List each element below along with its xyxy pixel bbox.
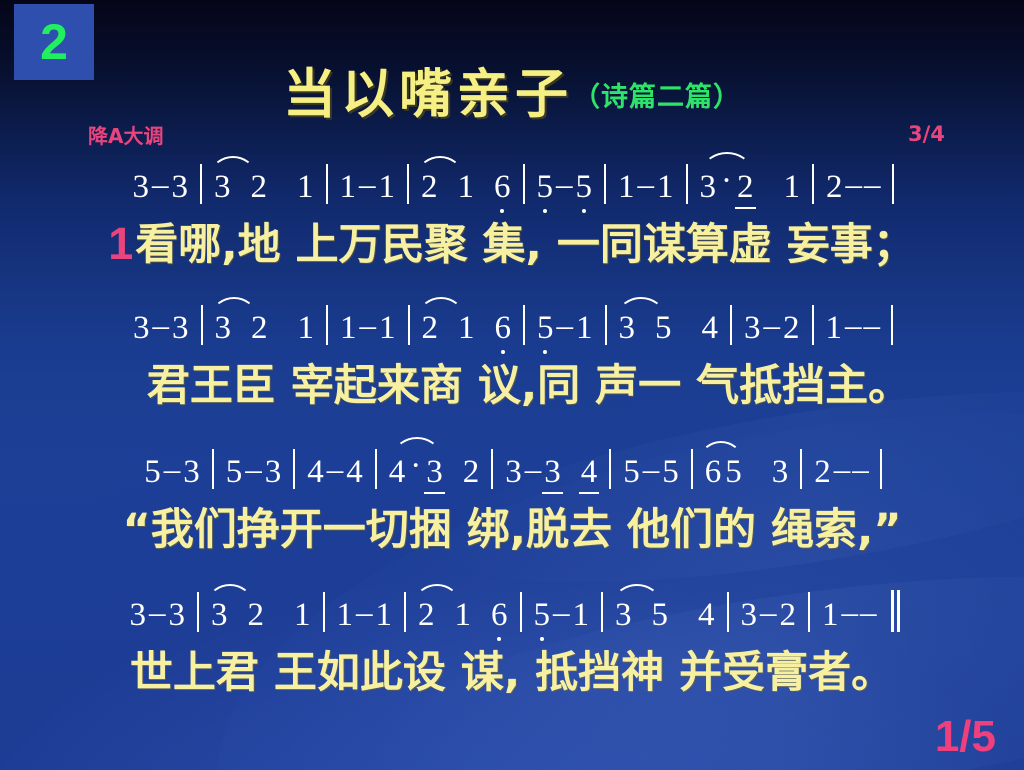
dash: –: [642, 452, 661, 489]
note: 3: [181, 456, 202, 489]
note: 1: [453, 599, 474, 632]
note-eighth: 3: [424, 456, 445, 489]
notation-line-3: 5–3 5–3 4–4 4·32 3–34 5–5 653 2––: [0, 443, 1024, 489]
note-low-octave: 6: [492, 171, 513, 204]
barline: [605, 305, 607, 345]
note: 1: [377, 312, 398, 345]
time-signature-label: 3/4: [908, 122, 945, 146]
note: 3: [131, 312, 152, 345]
dash: –: [833, 452, 852, 489]
note: 3: [613, 599, 634, 632]
note: 1: [335, 599, 356, 632]
notation-line-1: 3–3 321 1–1 216 5–5 1–1 3·21 2––: [0, 158, 1024, 204]
barline: [604, 164, 606, 204]
lyrics-line-2: 君王臣 宰起来商 议,同 声一 气抵挡主。: [0, 351, 1024, 413]
dash: –: [851, 452, 870, 489]
note-eighth: 4: [579, 456, 600, 489]
barline: [609, 449, 611, 489]
note: 1: [655, 171, 676, 204]
title-row: 当以嘴亲子（诗篇二篇）: [0, 52, 1024, 128]
barline: [800, 449, 802, 489]
note: 1: [295, 171, 316, 204]
measure: 5–1: [527, 595, 597, 632]
note: 2: [419, 171, 440, 204]
barline: [812, 305, 814, 345]
note: 5: [621, 456, 642, 489]
dash: –: [163, 452, 182, 489]
note-low-octave: 5: [532, 599, 553, 632]
note-eighth: 3: [542, 456, 563, 489]
barline: [892, 164, 894, 204]
measure: 653: [698, 456, 796, 489]
measure: 321: [208, 312, 322, 345]
measure: 354: [612, 312, 726, 345]
page-title: 当以嘴亲子: [283, 64, 573, 125]
barline: [323, 592, 325, 632]
note: 1: [782, 171, 803, 204]
dash: –: [244, 452, 263, 489]
dash: –: [358, 167, 377, 204]
note: 3: [170, 312, 191, 345]
note: 2: [778, 599, 799, 632]
barline: [520, 592, 522, 632]
dash: –: [637, 167, 656, 204]
measure: 5–3: [137, 452, 207, 489]
barline: [491, 449, 493, 489]
measure: 216: [411, 599, 515, 632]
measure: 3–3: [123, 595, 193, 632]
barline: [523, 164, 525, 204]
measure: 1–1: [333, 167, 403, 204]
note: 2: [246, 599, 267, 632]
note: 5: [660, 456, 681, 489]
note: 5: [650, 599, 671, 632]
note: 5: [142, 456, 163, 489]
note: 1: [571, 599, 592, 632]
barline: [375, 449, 377, 489]
dash: –: [841, 595, 860, 632]
note: 3: [617, 312, 638, 345]
lyrics-text: 看哪,地 上万民聚 集, 一同谋算虚 妄事；: [135, 210, 916, 272]
barline: [404, 592, 406, 632]
barline: [891, 305, 893, 345]
note: 5: [224, 456, 245, 489]
barline: [407, 164, 409, 204]
note: 6: [703, 456, 724, 489]
title-subtitle-reference: （诗篇二篇）: [573, 82, 741, 113]
measure: 216: [415, 312, 519, 345]
barline: [686, 164, 688, 204]
music-system-1: 3–3 321 1–1 216 5–5 1–1 3·21 2––: [0, 158, 1024, 272]
barline: [880, 449, 882, 489]
note: 4: [344, 456, 365, 489]
barline: [601, 592, 603, 632]
dash: –: [844, 308, 863, 345]
measure: 4–4: [300, 452, 370, 489]
dash: –: [763, 308, 782, 345]
dash: –: [845, 167, 864, 204]
dash: –: [359, 308, 378, 345]
measure: 5–1: [530, 308, 600, 345]
augmentation-dot: ·: [407, 448, 424, 485]
lyrics-line-1: 1看哪,地 上万民聚 集, 一同谋算虚 妄事；: [0, 210, 1024, 272]
barline: [523, 305, 525, 345]
note: 2: [812, 456, 833, 489]
music-system-3: 5–3 5–3 4–4 4·32 3–34 5–5 653 2–– “我: [0, 443, 1024, 557]
note: 1: [574, 312, 595, 345]
lyrics-line-3: “我们挣开一切捆 绑,脱去 他们的 绳索,”: [0, 495, 1024, 557]
note-low-octave: 6: [489, 599, 510, 632]
measure: 5–5: [530, 167, 600, 204]
note: 3: [128, 599, 149, 632]
note: 3: [131, 171, 152, 204]
dash: –: [552, 595, 571, 632]
note: 3: [209, 599, 230, 632]
note: 4: [700, 312, 721, 345]
dash: –: [524, 452, 543, 489]
dash: –: [151, 167, 170, 204]
measure: 3–2: [734, 595, 804, 632]
lyrics-text: 君王臣 宰起来商 议,同 声一 气抵挡主。: [147, 351, 911, 413]
dash: –: [859, 595, 878, 632]
note: 1: [824, 312, 845, 345]
measure: 3–34: [498, 452, 604, 489]
barline: [812, 164, 814, 204]
measure: 1––: [819, 308, 887, 345]
note: 2: [249, 312, 270, 345]
measure: 3–3: [126, 167, 196, 204]
note: 2: [420, 312, 441, 345]
measure: 321: [204, 599, 318, 632]
note: 1: [820, 599, 841, 632]
note: 1: [374, 599, 395, 632]
measure: 1––: [815, 595, 883, 632]
barline: [408, 305, 410, 345]
measure: 216: [414, 171, 518, 204]
note: 4: [305, 456, 326, 489]
measure: 3–2: [737, 308, 807, 345]
measure: 2––: [807, 452, 875, 489]
note: 5: [723, 456, 744, 489]
lyrics-text: 世上君 王如此设 谋, 抵挡神 并受膏者。: [130, 638, 894, 700]
dash: –: [148, 595, 167, 632]
note: 1: [377, 171, 398, 204]
note: 3: [503, 456, 524, 489]
measure: 2––: [819, 167, 887, 204]
note: 3: [739, 599, 760, 632]
measure: 1–1: [611, 167, 681, 204]
measure: 4·32: [382, 452, 487, 489]
barline: [293, 449, 295, 489]
note: 3: [698, 171, 719, 204]
note: 1: [616, 171, 637, 204]
notation-line-4: 3–3 321 1–1 216 5–1 354 3–2 1––: [0, 586, 1024, 632]
note: 3: [770, 456, 791, 489]
note: 1: [296, 312, 317, 345]
note: 1: [456, 171, 477, 204]
note: 3: [742, 312, 763, 345]
measure: 354: [608, 599, 722, 632]
dash: –: [152, 308, 171, 345]
barline: [808, 592, 810, 632]
note-low-octave: 5: [574, 171, 595, 204]
verse-number: 1: [108, 218, 133, 270]
dash: –: [326, 452, 345, 489]
lyrics-text: “我们挣开一切捆 绑,脱去 他们的 绳索,”: [122, 495, 901, 557]
note: 1: [338, 171, 359, 204]
note: 3: [167, 599, 188, 632]
measure: 1–1: [333, 308, 403, 345]
slide-canvas: 2 当以嘴亲子（诗篇二篇） 降A大调 3/4 3–3 321 1–1 216 5…: [0, 0, 1024, 770]
note: 3: [212, 171, 233, 204]
note: 2: [416, 599, 437, 632]
measure: 1–1: [330, 595, 400, 632]
dash: –: [863, 308, 882, 345]
note: 1: [338, 312, 359, 345]
dash: –: [556, 308, 575, 345]
augmentation-dot: ·: [718, 163, 735, 200]
notation-line-2: 3–3 321 1–1 216 5–1 354 3–2 1––: [0, 299, 1024, 345]
note: 1: [292, 599, 313, 632]
final-double-barline: [888, 590, 900, 632]
barline: [326, 305, 328, 345]
measure: 5–5: [616, 452, 686, 489]
barline: [730, 305, 732, 345]
dash: –: [355, 595, 374, 632]
note: 3: [213, 312, 234, 345]
barline: [201, 305, 203, 345]
measure: 321: [207, 171, 321, 204]
note: 2: [249, 171, 270, 204]
key-signature-label: 降A大调: [88, 120, 163, 149]
lyrics-line-4: 世上君 王如此设 谋, 抵挡神 并受膏者。: [0, 638, 1024, 700]
note: 5: [653, 312, 674, 345]
dash: –: [759, 595, 778, 632]
barline: [212, 449, 214, 489]
barline: [200, 164, 202, 204]
measure: 3–3: [126, 308, 196, 345]
measure: 3·21: [693, 167, 808, 204]
page-counter: 1/5: [935, 712, 996, 762]
note-low-octave: 5: [535, 312, 556, 345]
note: 4: [696, 599, 717, 632]
note: 4: [387, 456, 408, 489]
note: 2: [461, 456, 482, 489]
music-system-4: 3–3 321 1–1 216 5–1 354 3–2 1––: [0, 586, 1024, 700]
note-low-octave: 6: [493, 312, 514, 345]
barline: [197, 592, 199, 632]
dash: –: [555, 167, 574, 204]
note: 3: [170, 171, 191, 204]
note: 1: [456, 312, 477, 345]
barline: [727, 592, 729, 632]
measure: 5–3: [219, 452, 289, 489]
note: 2: [824, 171, 845, 204]
note: 3: [263, 456, 284, 489]
barline: [691, 449, 693, 489]
barline: [326, 164, 328, 204]
note: 2: [781, 312, 802, 345]
note-eighth: 2: [735, 171, 756, 204]
music-system-2: 3–3 321 1–1 216 5–1 354 3–2 1––: [0, 299, 1024, 413]
note-low-octave: 5: [535, 171, 556, 204]
dash: –: [863, 167, 882, 204]
